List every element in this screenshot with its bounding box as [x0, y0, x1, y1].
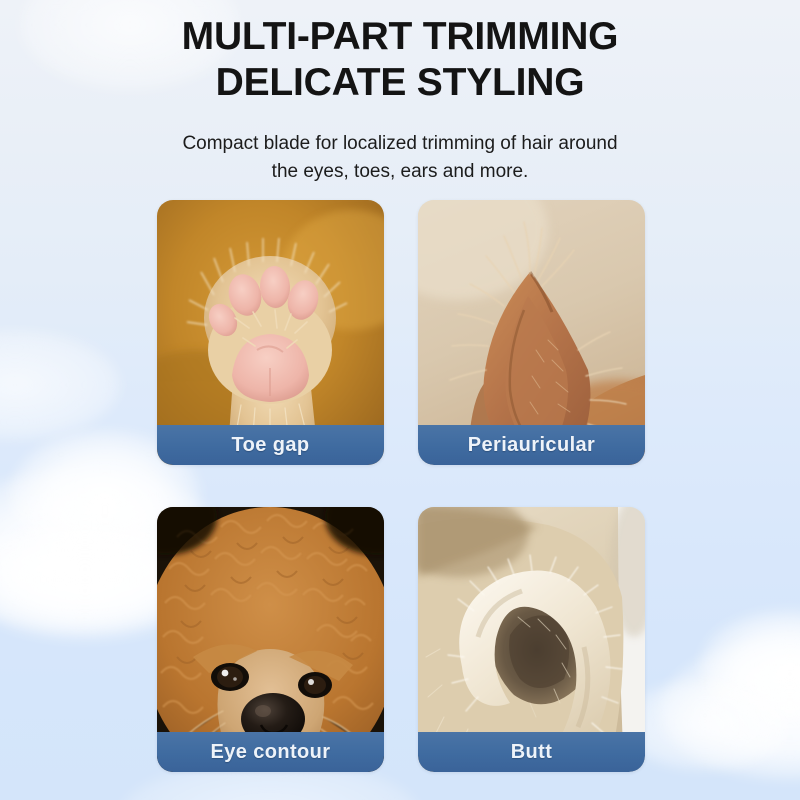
card-label-text: Periauricular	[468, 434, 596, 457]
headline-line-1: MULTI-PART TRIMMING	[0, 14, 800, 60]
feature-card-butt[interactable]: Butt	[418, 507, 645, 772]
cloud-shape	[660, 640, 800, 780]
card-label-toe-gap: Toe gap	[157, 425, 384, 465]
feature-card-grid: Toe gap	[157, 200, 645, 772]
cloud-shape	[620, 680, 790, 770]
card-label-eye-contour: Eye contour	[157, 732, 384, 772]
subtitle-line-1: Compact blade for localized trimming of …	[0, 130, 800, 158]
card-label-text: Toe gap	[232, 434, 310, 457]
card-label-text: Butt	[511, 741, 553, 764]
feature-card-toe-gap[interactable]: Toe gap	[157, 200, 384, 465]
subtitle: Compact blade for localized trimming of …	[0, 130, 800, 186]
card-label-text: Eye contour	[211, 741, 331, 764]
feature-card-periauricular[interactable]: Periauricular	[418, 200, 645, 465]
headline: MULTI-PART TRIMMING DELICATE STYLING	[0, 14, 800, 106]
card-label-butt: Butt	[418, 732, 645, 772]
promo-page: MULTI-PART TRIMMING DELICATE STYLING Com…	[0, 0, 800, 800]
subtitle-line-2: the eyes, toes, ears and more.	[0, 158, 800, 186]
card-label-periauricular: Periauricular	[418, 425, 645, 465]
cloud-shape	[0, 330, 120, 440]
cloud-shape	[700, 610, 800, 720]
headline-line-2: DELICATE STYLING	[0, 60, 800, 106]
feature-card-eye-contour[interactable]: Eye contour	[157, 507, 384, 772]
